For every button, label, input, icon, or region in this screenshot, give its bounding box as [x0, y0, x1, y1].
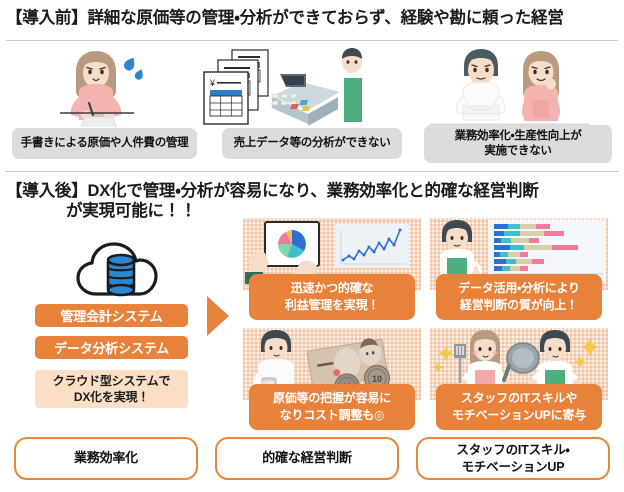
system-button-data-analysis-label: データ分析システム — [54, 338, 169, 357]
system-button-management-accounting-label: 管理会計システム — [60, 306, 162, 325]
outcome-box-1-label: 業務効率化 — [74, 450, 138, 467]
before-heading: 【導入前】詳細な原価等の管理・分析ができておらず、経験や勘に頼った経営 — [6, 8, 618, 28]
slide-root: 【導入前】詳細な原価等の管理・分析ができておらず、経験や勘に頼った経営 — [0, 0, 624, 492]
benefit-caption-2-line2: 経営判断の質が向上！ — [460, 297, 578, 314]
outcome-box-3-label-line1: スタッフのITスキル・ — [456, 442, 569, 458]
outcome-box-2: 的確な経営判断 — [215, 437, 399, 480]
benefit-caption-1-line1: 迅速かつ的確な — [291, 280, 374, 297]
outcome-box-2-label: 的確な経営判断 — [262, 450, 352, 467]
svg-text:10: 10 — [372, 374, 382, 384]
benefit-caption-3: 原価等の把握が容易に なりコスト調整も◎ — [249, 384, 415, 430]
cloud-system-note-line2: DX化を実現！ — [74, 389, 149, 405]
documents-and-cash-register-illustration: ¥ — [202, 48, 362, 128]
after-heading: 【導入後】DX化で管理・分析が容易になり、業務効率化と的確な経営判断 が実現可能… — [6, 181, 618, 221]
cloud-system-note-line1: クラウド型システムで — [53, 373, 171, 389]
benefit-caption-2: データ活用・分析により 経営判断の質が向上！ — [436, 274, 602, 320]
benefit-caption-3-line1: 原価等の把握が容易に — [273, 390, 391, 407]
system-button-management-accounting[interactable]: 管理会計システム — [35, 304, 188, 327]
benefit-caption-2-line1: データ活用・分析により — [458, 280, 580, 297]
problem-box-3-label-line1: 業務効率化・生産性向上が — [455, 129, 582, 144]
problem-box-3: 業務効率化・生産性向上が 実施できない — [424, 125, 612, 163]
problem-box-2-label: 売上データ等の分析ができない — [234, 136, 391, 151]
troubled-man-and-woman-illustration — [430, 48, 590, 128]
worried-woman-handwriting-illustration — [36, 47, 156, 127]
benefit-cell-2: a b c d e f g h i データ活用・分析により 経営判断の質が向上！ — [430, 218, 608, 322]
benefit-caption-1-line2: 利益管理を実現！ — [285, 297, 379, 314]
cloud-database-icon — [72, 242, 168, 304]
system-button-data-analysis[interactable]: データ分析システム — [35, 336, 188, 359]
cloud-system-note: クラウド型システムで DX化を実現！ — [35, 370, 188, 408]
after-heading-line1: 【導入後】DX化で管理・分析が容易になり、業務効率化と的確な経営判断 — [6, 181, 618, 201]
benefit-cell-3: 10 10 原価等の把握が容易に なりコスト調整も◎ — [243, 328, 421, 432]
benefit-caption-4-line1: スタッフのITスキルや — [461, 390, 577, 407]
svg-text:¥: ¥ — [209, 78, 216, 88]
problem-box-1: 手書きによる原価や人件費の管理 — [12, 128, 197, 159]
outcome-box-1: 業務効率化 — [14, 437, 198, 480]
outcome-box-3: スタッフのITスキル・ モチベーションUP — [416, 437, 610, 480]
problem-box-1-label: 手書きによる原価や人件費の管理 — [21, 136, 189, 151]
outcome-box-3-label-line2: モチベーションUP — [462, 459, 565, 475]
before-divider — [6, 40, 618, 41]
benefit-caption-1: 迅速かつ的確な 利益管理を実現！ — [249, 274, 415, 320]
benefit-cell-1: 迅速かつ的確な 利益管理を実現！ — [243, 218, 421, 322]
benefit-caption-4-line2: モチベーションUPに寄与 — [452, 407, 586, 424]
problem-box-3-label-line2: 実施できない — [455, 144, 582, 159]
after-divider — [6, 171, 618, 172]
problem-box-2: 売上データ等の分析ができない — [222, 128, 402, 159]
benefit-caption-4: スタッフのITスキルや モチベーションUPに寄与 — [436, 384, 602, 430]
benefit-cell-4: スタッフのITスキルや モチベーションUPに寄与 — [430, 328, 608, 432]
benefit-caption-3-line2: なりコスト調整も◎ — [280, 407, 385, 424]
right-arrow-icon — [205, 295, 231, 337]
